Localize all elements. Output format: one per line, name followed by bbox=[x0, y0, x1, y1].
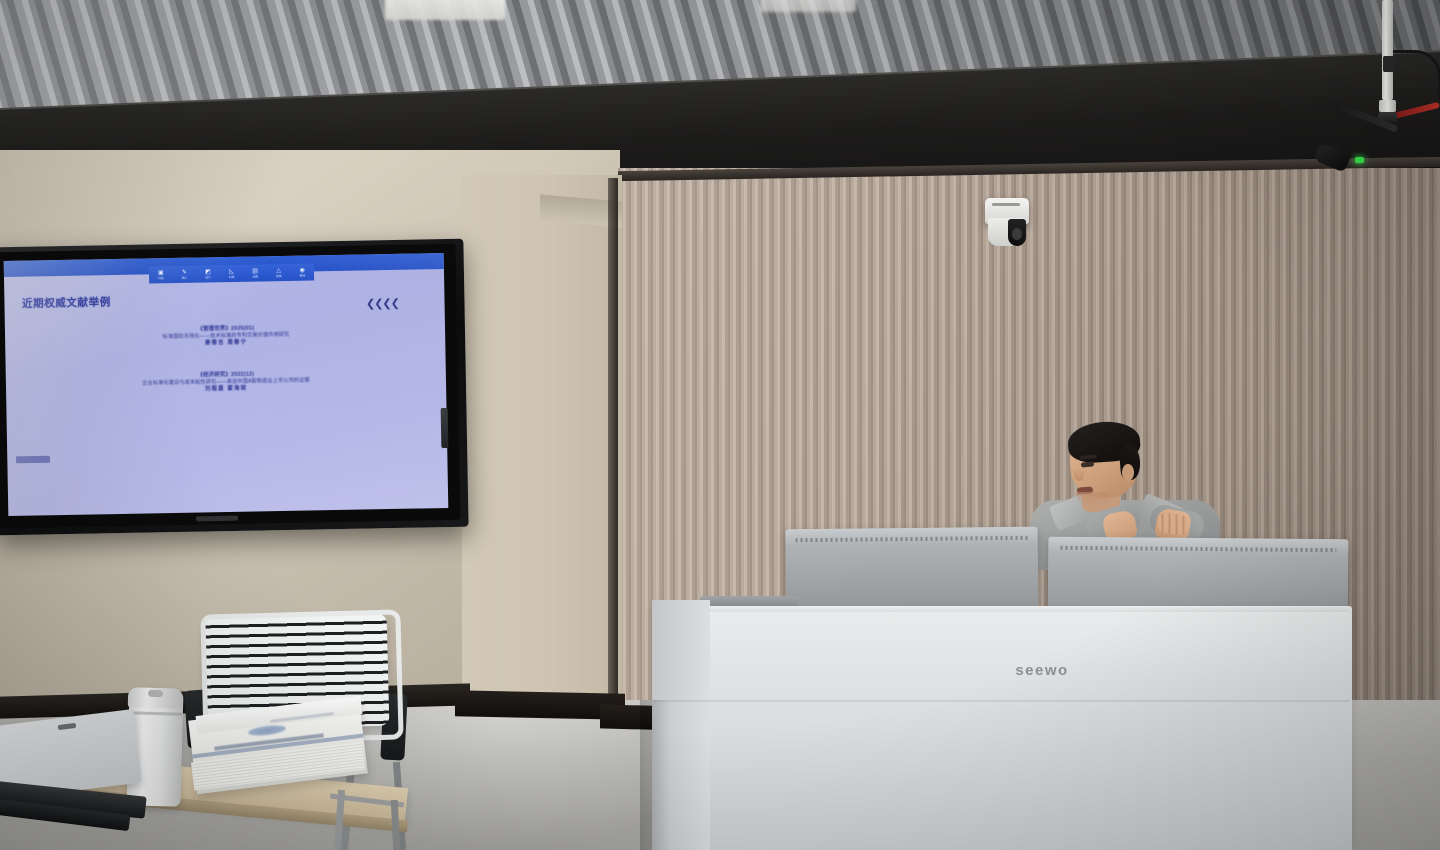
microphone-cable bbox=[1392, 50, 1440, 99]
toolbar-item-5[interactable]: △ 放映 bbox=[267, 264, 291, 280]
podium-panel-seam bbox=[654, 700, 1350, 702]
microphone-pole bbox=[1382, 0, 1393, 100]
monitor-left-vents bbox=[796, 536, 1028, 542]
podium-body bbox=[652, 612, 1352, 850]
toolbar-icon-5: △ bbox=[276, 268, 281, 274]
toolbar-label-5: 放映 bbox=[276, 275, 282, 278]
toolbar-icon-6: ◉ bbox=[300, 267, 305, 273]
security-camera-vent bbox=[992, 203, 1020, 206]
toolbar-label-6: 审阅 bbox=[299, 274, 305, 277]
microphone-pole-clip bbox=[1383, 56, 1394, 72]
podium-side-shadow bbox=[640, 700, 670, 850]
beige-pillar bbox=[462, 175, 622, 720]
toolbar-item-6[interactable]: ◉ 审阅 bbox=[290, 264, 314, 280]
display-brand-plate bbox=[196, 516, 238, 522]
monitor-right-vents bbox=[1060, 546, 1336, 552]
presentation-toolbar-strip[interactable]: ▣ 开始 ✎ 插入 ◩ 设计 ◺ 切换 ▤ 动画 △ 放映 bbox=[149, 263, 314, 283]
toolbar-label-1: 插入 bbox=[182, 276, 188, 279]
ceiling-light-panel-secondary bbox=[760, 0, 856, 12]
speaker-nose bbox=[1074, 468, 1084, 481]
podium-brand-logo: seewo bbox=[1002, 662, 1082, 679]
toolbar-item-3[interactable]: ◺ 切换 bbox=[220, 265, 244, 281]
ceiling-light-panel bbox=[385, 0, 505, 20]
lecture-room-photo: ▣ 开始 ✎ 插入 ◩ 设计 ◺ 切换 ▤ 动画 △ 放映 bbox=[0, 0, 1440, 850]
toolbar-item-4[interactable]: ▤ 动画 bbox=[243, 265, 267, 281]
microphone-status-led bbox=[1355, 157, 1364, 163]
toolbar-label-0: 开始 bbox=[158, 277, 164, 280]
toolbar-label-3: 切换 bbox=[229, 275, 235, 278]
toolbar-icon-2: ◩ bbox=[205, 269, 211, 275]
toolbar-label-4: 动画 bbox=[252, 275, 258, 278]
speaker-ear bbox=[1122, 464, 1134, 481]
toolbar-item-2[interactable]: ◩ 设计 bbox=[196, 266, 220, 282]
vacuum-flask-knob bbox=[148, 690, 163, 697]
toolbar-item-0[interactable]: ▣ 开始 bbox=[149, 267, 173, 283]
pillar-shadow-line bbox=[608, 178, 618, 718]
security-camera-lens bbox=[1012, 228, 1022, 240]
toolbar-icon-1: ✎ bbox=[182, 269, 187, 275]
toolbar-icon-0: ▣ bbox=[158, 270, 164, 276]
toolbar-item-1[interactable]: ✎ 插入 bbox=[172, 266, 196, 282]
display-side-button[interactable] bbox=[441, 408, 449, 448]
chevron-left-icon: ❮❮❮❮ bbox=[366, 297, 399, 311]
toolbar-icon-4: ▤ bbox=[252, 268, 258, 274]
microphone-collar bbox=[1379, 100, 1396, 112]
slide-corner-tag bbox=[16, 456, 50, 464]
slide-title: 近期权威文献举例 bbox=[22, 294, 111, 311]
toolbar-icon-3: ◺ bbox=[229, 268, 234, 274]
toolbar-label-2: 设计 bbox=[205, 276, 211, 279]
